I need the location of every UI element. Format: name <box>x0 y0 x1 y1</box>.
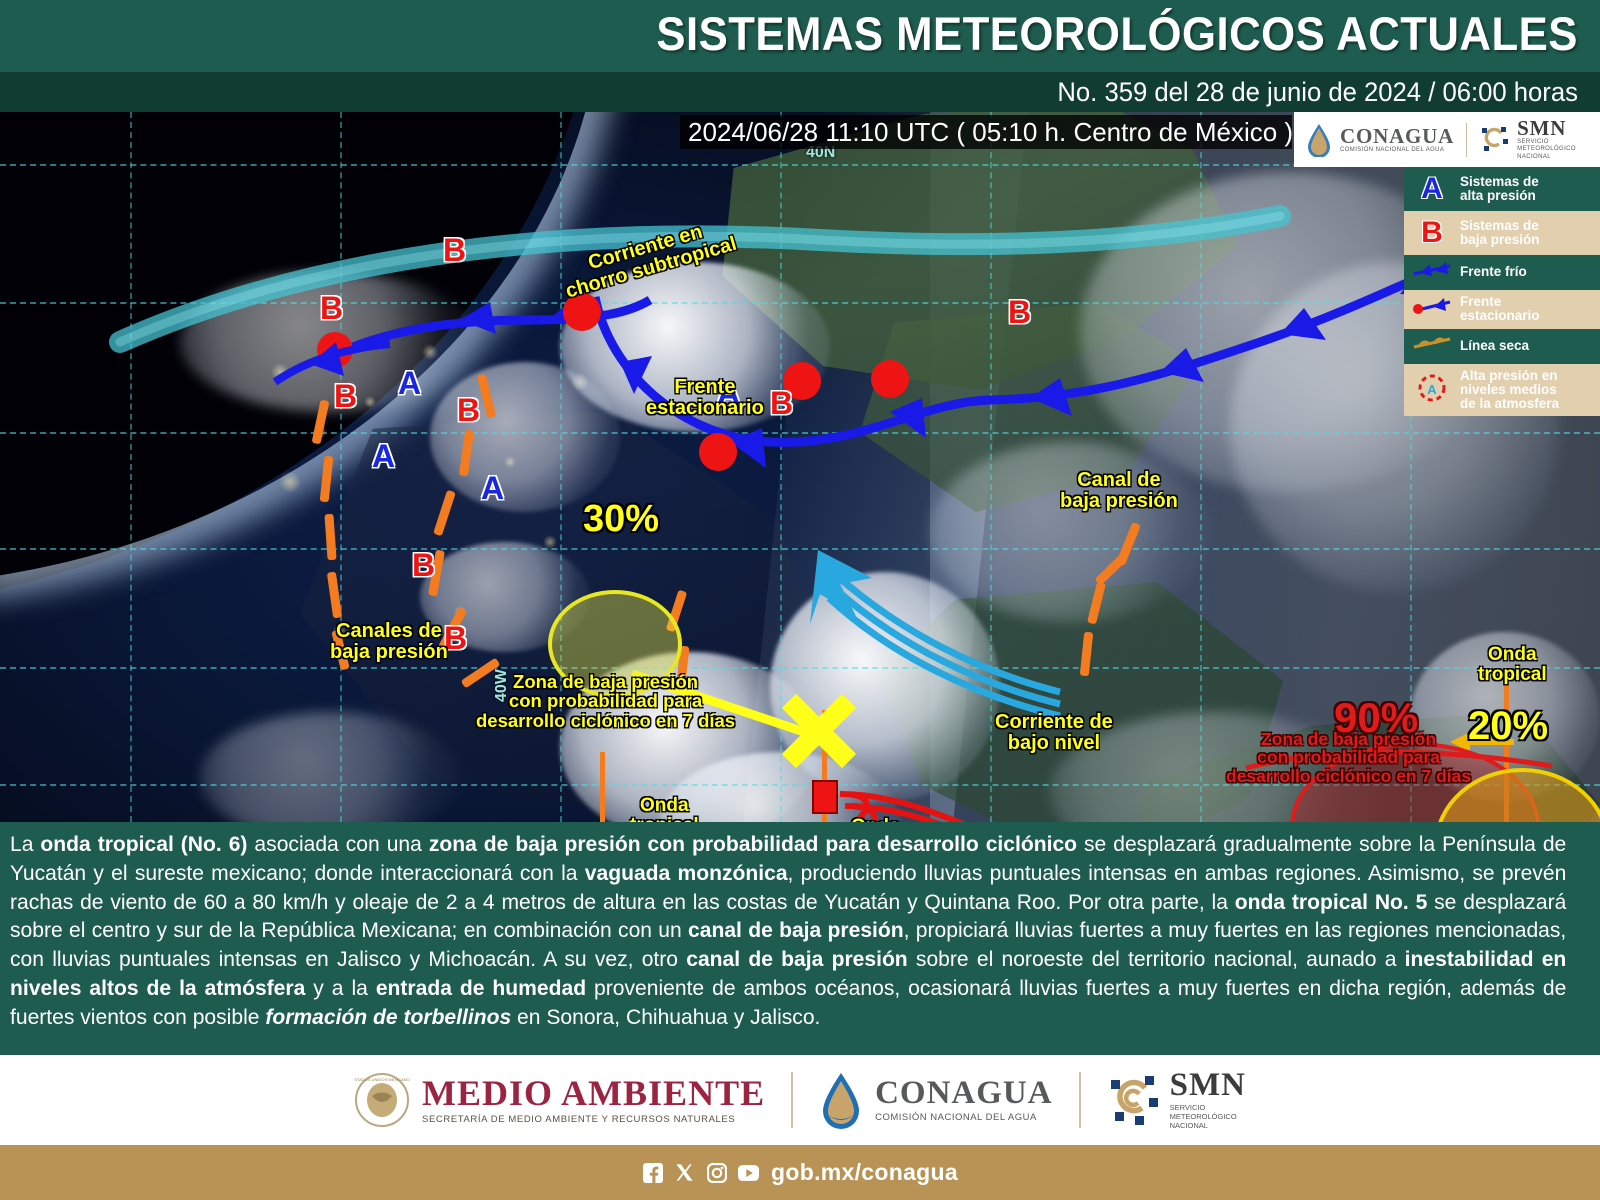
conagua-footer-title: CONAGUA <box>875 1077 1053 1110</box>
map-legend: A Sistemas de alta presión B Sistemas de… <box>1404 167 1600 416</box>
conagua-footer-sub: COMISIÓN NACIONAL DEL AGUA <box>875 1112 1053 1123</box>
conagua-drop-icon <box>1306 123 1332 157</box>
legend-item-high-pressure: A Sistemas de alta presión <box>1404 167 1600 211</box>
legend-item-cold-front: Frente frío <box>1404 255 1600 290</box>
map-header-logos: CONAGUA COMISIÓN NACIONAL DEL AGUA SMN S… <box>1294 112 1600 167</box>
high-pressure-marker: A <box>717 377 740 409</box>
mexico-eagle-seal-icon: ESTADOS UNIDOS MEXICANOS <box>354 1072 410 1128</box>
svg-text:A: A <box>1427 382 1437 397</box>
low-pressure-marker: B <box>443 234 466 266</box>
legend-label: Frente frío <box>1460 265 1527 279</box>
bulletin-segment: vaguada monzónica <box>585 861 788 885</box>
low-pressure-marker: B <box>457 394 480 426</box>
low-pressure-marker: B <box>1008 296 1031 328</box>
social-icons[interactable] <box>642 1162 759 1183</box>
bulletin-segment: formación de torbellinos <box>265 1005 511 1029</box>
map-timestamp: 2024/06/28 11:10 UTC ( 05:10 h. Centro d… <box>688 117 1293 148</box>
low-pressure-marker: B <box>334 380 357 412</box>
legend-label: Alta presión en niveles medios de la atm… <box>1460 369 1559 412</box>
letter-b-red-icon: B <box>1412 216 1452 250</box>
header-title-bar: SISTEMAS METEOROLÓGICOS ACTUALES <box>0 0 1600 72</box>
stationary-front-east-red <box>780 367 940 427</box>
high-pressure-marker: A <box>481 472 504 504</box>
conagua-footer-logo: CONAGUA COMISIÓN NACIONAL DEL AGUA <box>819 1071 1053 1129</box>
medio-ambiente-sub: SECRETARÍA DE MEDIO AMBIENTE Y RECURSOS … <box>422 1114 765 1125</box>
facebook-icon[interactable] <box>642 1162 663 1183</box>
legend-label: Sistemas de baja presión <box>1460 219 1540 248</box>
medio-ambiente-title: MEDIO AMBIENTE <box>422 1075 765 1111</box>
latitude-gridline <box>0 548 1600 550</box>
letter-a-blue-icon: A <box>1412 172 1452 206</box>
svg-text:ESTADOS UNIDOS MEXICANOS: ESTADOS UNIDOS MEXICANOS <box>354 1077 410 1082</box>
social-footer-bar: gob.mx/conagua <box>0 1145 1600 1200</box>
smn-footer-sub: SERVICIO METEOROLÓGICO NACIONAL <box>1170 1104 1246 1131</box>
bulletin-segment: onda tropical (No. 6) <box>40 832 247 856</box>
bulletin-segment: onda tropical No. 5 <box>1235 890 1428 914</box>
smn-spiral-icon <box>1107 1074 1159 1126</box>
weather-bulletin-page: SISTEMAS METEOROLÓGICOS ACTUALES No. 359… <box>0 0 1600 1200</box>
instagram-icon[interactable] <box>706 1162 727 1183</box>
bulletin-segment: canal de baja presión <box>688 918 904 942</box>
medio-ambiente-logo: ESTADOS UNIDOS MEXICANOS MEDIO AMBIENTE … <box>354 1072 765 1128</box>
smn-footer-logo: SMN SERVICIO METEOROLÓGICO NACIONAL <box>1107 1069 1246 1131</box>
header-subtitle-bar: No. 359 del 28 de junio de 2024 / 06:00 … <box>0 72 1600 112</box>
monsoon-low-marker <box>812 780 838 814</box>
legend-label: Frente estacionario <box>1460 295 1540 324</box>
conagua-drop-icon <box>819 1071 863 1129</box>
satellite-weather-map[interactable]: 40N 40W <box>0 112 1600 822</box>
bulletin-text-block: La onda tropical (No. 6) asociada con un… <box>0 822 1600 1055</box>
logo-divider <box>1466 123 1467 157</box>
footer-divider <box>791 1072 793 1128</box>
smn-logo-text: SMN <box>1517 118 1576 139</box>
bulletin-segment: entrada de humedad <box>376 976 586 1000</box>
gob-mx-handle[interactable]: gob.mx/conagua <box>771 1159 958 1186</box>
page-title: SISTEMAS METEOROLÓGICOS ACTUALES <box>656 6 1578 61</box>
monsoon-trough-line <box>0 732 1110 822</box>
latitude-gridline <box>0 667 1600 669</box>
legend-item-low-pressure: B Sistemas de baja presión <box>1404 211 1600 255</box>
low-pressure-marker: B <box>770 387 793 419</box>
legend-label: Sistemas de alta presión <box>1460 175 1539 204</box>
bulletin-segment: sobre el noroeste del territorio naciona… <box>908 947 1405 971</box>
bulletin-segment: en Sonora, Chihuahua y Jalisco. <box>511 1005 820 1029</box>
cold-front-icon <box>1412 260 1452 285</box>
footer-divider <box>1079 1072 1081 1128</box>
stationary-front-icon <box>1412 297 1452 322</box>
low-pressure-marker: B <box>412 549 435 581</box>
bulletin-segment: zona de baja presión con probabilidad pa… <box>429 832 1077 856</box>
legend-label: Línea seca <box>1460 339 1529 353</box>
low-pressure-marker: B <box>320 292 343 324</box>
legend-item-mid-level-high: A Alta presión en niveles medios de la a… <box>1404 364 1600 417</box>
low-pressure-marker: B <box>444 622 467 654</box>
yellow-x-marker <box>786 698 852 764</box>
high-pressure-marker: A <box>372 440 395 472</box>
dry-line-icon <box>1412 334 1452 359</box>
legend-item-stationary-front: Frente estacionario <box>1404 290 1600 329</box>
bulletin-number-date: No. 359 del 28 de junio de 2024 / 06:00 … <box>1057 77 1578 108</box>
bulletin-segment: y a la <box>305 976 375 1000</box>
dry-line <box>1240 752 1560 812</box>
smn-logo-sub: SERVICIOMETEOROLÓGICONACIONAL <box>1517 139 1576 161</box>
bulletin-segment: La <box>10 832 40 856</box>
smn-spiral-icon <box>1479 125 1509 155</box>
bulletin-paragraph: La onda tropical (No. 6) asociada con un… <box>10 830 1566 1031</box>
bulletin-segment: asociada con una <box>247 832 428 856</box>
high-pressure-marker: A <box>398 367 421 399</box>
longitude-gridline <box>130 112 132 822</box>
conagua-logo-text: CONAGUA <box>1340 126 1454 147</box>
conagua-logo-sub: COMISIÓN NACIONAL DEL AGUA <box>1340 147 1454 153</box>
legend-item-dry-line: Línea seca <box>1404 329 1600 364</box>
longitude-gridline <box>340 112 342 822</box>
grid-label-40w: 40W <box>493 669 511 702</box>
smn-footer-title: SMN <box>1170 1069 1246 1102</box>
mid-level-high-icon: A <box>1412 373 1452 408</box>
youtube-icon[interactable] <box>738 1162 759 1183</box>
x-twitter-icon[interactable] <box>674 1162 695 1183</box>
bulletin-segment: canal de baja presión <box>686 947 907 971</box>
footer-logos: ESTADOS UNIDOS MEXICANOS MEDIO AMBIENTE … <box>0 1055 1600 1145</box>
probability-zone-30 <box>548 590 682 698</box>
